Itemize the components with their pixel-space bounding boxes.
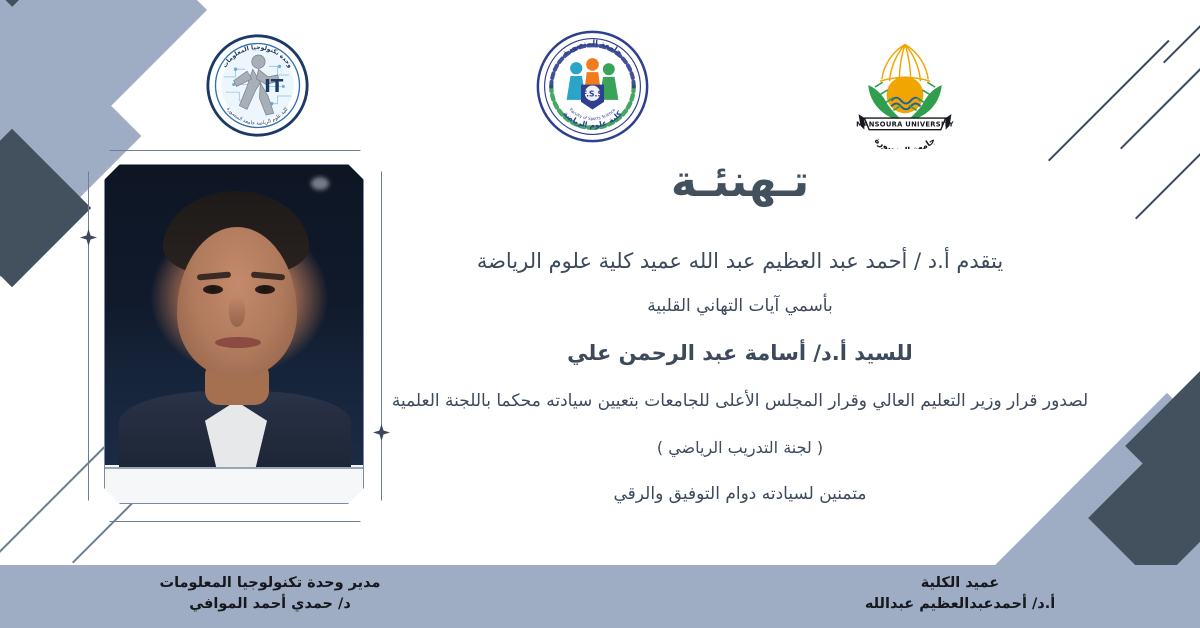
message-line-1: يتقدم أ.د / أحمد عبد العظيم عبد الله عمي…: [390, 242, 1090, 282]
honoree-portrait: [88, 150, 382, 522]
diagonal-line-top-right-4: [1163, 0, 1200, 63]
portrait-eye-left: [203, 285, 223, 294]
diagonal-line-top-right-3: [1135, 108, 1200, 219]
portrait-mouth: [215, 337, 261, 348]
mansoura-university-logo: MANSOURA UNIVERSITY جامعة المنصورة: [845, 29, 965, 149]
message-line-4: لصدور قرار وزير التعليم العالي وقرار الم…: [390, 381, 1090, 422]
portrait-caption-strip: [105, 467, 363, 504]
congratulation-card: IT وحدة تكنولوجيا المعلومات كلية علوم ال…: [0, 0, 1200, 628]
footer-right-role: عميد الكلية: [790, 573, 1130, 594]
diagonal-line-top-right-1: [1048, 40, 1170, 162]
corner-shape-top-left-light-1: [9, 0, 207, 109]
svg-text:MANSOURA UNIVERSITY: MANSOURA UNIVERSITY: [856, 120, 954, 128]
it-unit-logo: IT وحدة تكنولوجيا المعلومات كلية علوم ال…: [205, 33, 310, 138]
svg-text:F.S.S: F.S.S: [582, 90, 603, 99]
svg-text:IT: IT: [264, 76, 284, 97]
message-line-6: متمنين لسيادته دوام التوفيق والرقي: [390, 474, 1090, 515]
portrait-photo: [105, 165, 363, 465]
diagonal-line-top-right-2: [1120, 63, 1200, 149]
faculty-of-sports-science-logo: F.S.S جامعة المنصورة كلية علوم الرياضة F…: [535, 29, 650, 144]
footer-signature-left: مدير وحدة تكنولوجيا المعلومات د/ حمدي أح…: [110, 573, 430, 615]
photo-light-spot: [311, 177, 329, 190]
footer-left-role: مدير وحدة تكنولوجيا المعلومات: [110, 573, 430, 594]
message-block: تـهنئـة يتقدم أ.د / أحمد عبد العظيم عبد …: [390, 160, 1090, 521]
message-line-3: للسيد أ.د/ أسامة عبد الرحمن علي: [390, 331, 1090, 375]
portrait-eye-right: [255, 285, 275, 294]
footer-band: مدير وحدة تكنولوجيا المعلومات د/ حمدي أح…: [0, 565, 1200, 628]
footer-left-name: د/ حمدي أحمد الموافي: [110, 594, 430, 615]
footer-right-name: أ.د/ أحمدعبدالعظيم عبدالله: [790, 594, 1130, 615]
message-line-2: بأسمي آيات التهاني القلبية: [390, 288, 1090, 325]
page-title: تـهنئـة: [390, 160, 1090, 204]
portrait-nose: [229, 297, 245, 327]
corner-shape-left-dark-2: [0, 129, 91, 287]
portrait-inner-frame: [104, 164, 364, 504]
corner-shape-bottom-right-dark-1: [1125, 361, 1200, 531]
message-line-5: ( لجنة التدريب الرياضي ): [390, 428, 1090, 468]
corner-shape-top-left-dark: [0, 0, 88, 88]
footer-signature-right: عميد الكلية أ.د/ أحمدعبدالعظيم عبدالله: [790, 573, 1130, 615]
corner-shape-left-light-3: [0, 85, 59, 255]
svg-text:جامعة المنصورة: جامعة المنصورة: [872, 136, 938, 149]
